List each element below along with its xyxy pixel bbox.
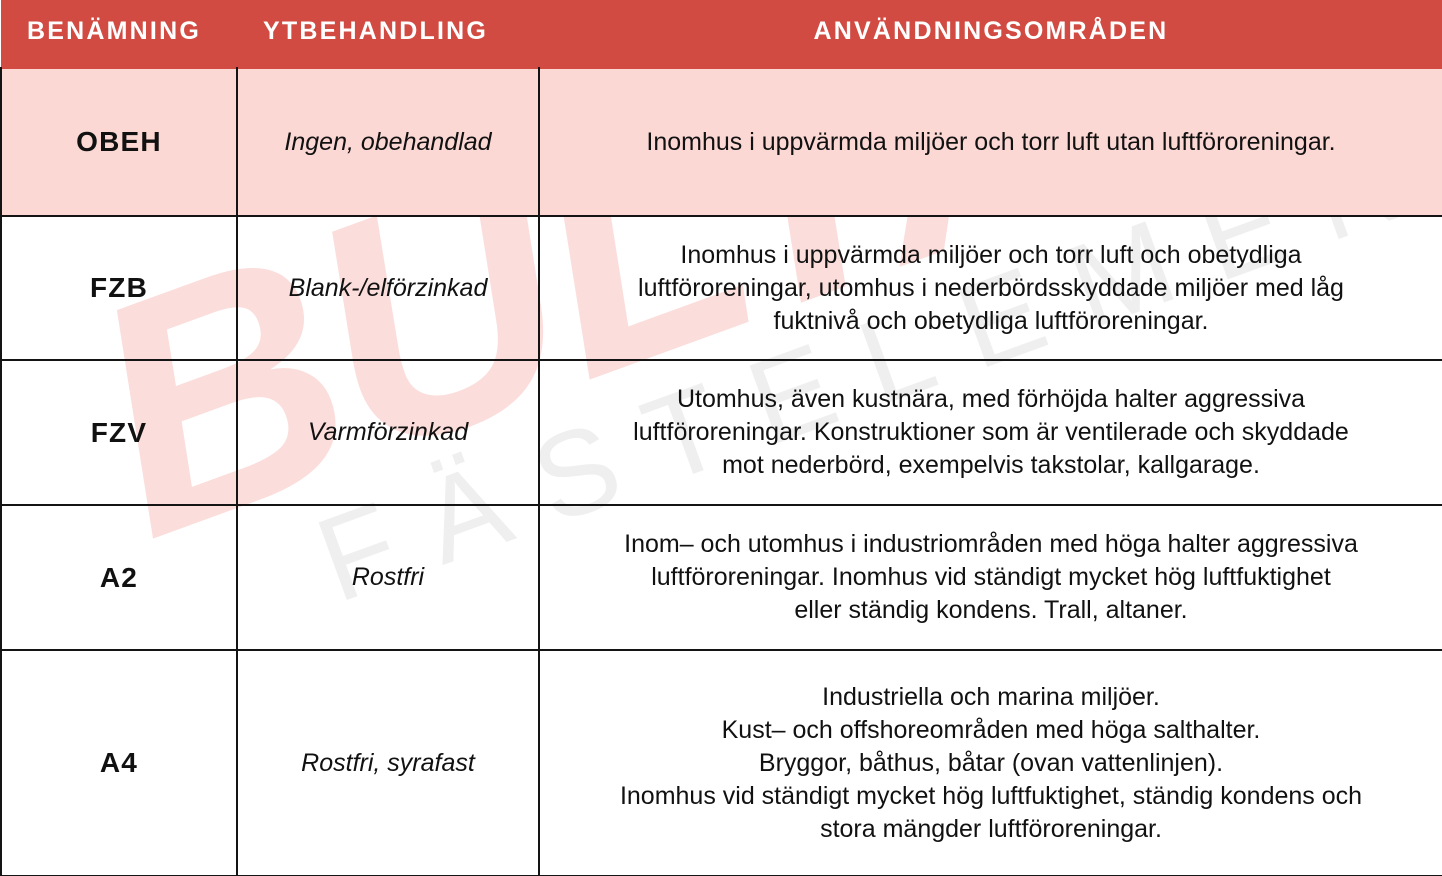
usage-line: luftföroreningar, utomhus i nederbördssk…	[568, 272, 1414, 305]
usage-line: Bryggor, båthus, båtar (ovan vattenlinje…	[568, 747, 1414, 780]
usage-line: Industriella och marina miljöer.	[568, 681, 1414, 714]
cell-ytbehandling: Rostfri	[237, 505, 539, 650]
cell-ytbehandling: Ingen, obehandlad	[237, 68, 539, 216]
usage-line: eller ständig kondens. Trall, altaner.	[568, 594, 1414, 627]
usage-line: fuktnivå och obetydliga luftföroreningar…	[568, 305, 1414, 338]
table-row: FZBBlank-/elförzinkadInomhus i uppvärmda…	[1, 216, 1442, 360]
usage-line: Kust– och offshoreområden med höga salth…	[568, 714, 1414, 747]
usage-line: Inom– och utomhus i industriområden med …	[568, 528, 1414, 561]
cell-benamning: FZB	[1, 216, 237, 360]
cell-anvandningsomraden: Industriella och marina miljöer.Kust– oc…	[539, 650, 1442, 876]
table-row: FZVVarmförzinkadUtomhus, även kustnära, …	[1, 360, 1442, 505]
surface-treatment-table: BENÄMNING YTBEHANDLING ANVÄNDNINGSOMRÅDE…	[0, 0, 1442, 876]
column-header-anvandningsomraden: ANVÄNDNINGSOMRÅDEN	[539, 0, 1442, 68]
column-header-ytbehandling: YTBEHANDLING	[237, 0, 539, 68]
usage-line: Inomhus i uppvärmda miljöer och torr luf…	[568, 126, 1414, 159]
cell-benamning: A4	[1, 650, 237, 876]
cell-anvandningsomraden: Inomhus i uppvärmda miljöer och torr luf…	[539, 216, 1442, 360]
cell-anvandningsomraden: Utomhus, även kustnära, med förhöjda hal…	[539, 360, 1442, 505]
usage-line: Inomhus vid ständigt mycket hög luftfukt…	[568, 780, 1414, 813]
table-row: A2RostfriInom– och utomhus i industriomr…	[1, 505, 1442, 650]
table-row: OBEHIngen, obehandladInomhus i uppvärmda…	[1, 68, 1442, 216]
table-header-row: BENÄMNING YTBEHANDLING ANVÄNDNINGSOMRÅDE…	[1, 0, 1442, 68]
table-container: BENÄMNING YTBEHANDLING ANVÄNDNINGSOMRÅDE…	[0, 0, 1442, 876]
cell-anvandningsomraden: Inomhus i uppvärmda miljöer och torr luf…	[539, 68, 1442, 216]
cell-benamning: A2	[1, 505, 237, 650]
usage-line: luftföroreningar. Konstruktioner som är …	[568, 416, 1414, 449]
usage-line: luftföroreningar. Inomhus vid ständigt m…	[568, 561, 1414, 594]
table-body: OBEHIngen, obehandladInomhus i uppvärmda…	[1, 68, 1442, 876]
usage-line: mot nederbörd, exempelvis takstolar, kal…	[568, 449, 1414, 482]
cell-benamning: OBEH	[1, 68, 237, 216]
cell-benamning: FZV	[1, 360, 237, 505]
usage-line: Utomhus, även kustnära, med förhöjda hal…	[568, 383, 1414, 416]
surface-treatment-table-page: BULTAB FÄSTELEMENT BENÄMNING YTBEHANDLIN…	[0, 0, 1442, 876]
table-row: A4Rostfri, syrafastIndustriella och mari…	[1, 650, 1442, 876]
table-header: BENÄMNING YTBEHANDLING ANVÄNDNINGSOMRÅDE…	[1, 0, 1442, 68]
cell-anvandningsomraden: Inom– och utomhus i industriområden med …	[539, 505, 1442, 650]
cell-ytbehandling: Blank-/elförzinkad	[237, 216, 539, 360]
usage-line: stora mängder luftföroreningar.	[568, 813, 1414, 846]
usage-line: Inomhus i uppvärmda miljöer och torr luf…	[568, 239, 1414, 272]
cell-ytbehandling: Rostfri, syrafast	[237, 650, 539, 876]
cell-ytbehandling: Varmförzinkad	[237, 360, 539, 505]
column-header-benamning: BENÄMNING	[1, 0, 237, 68]
